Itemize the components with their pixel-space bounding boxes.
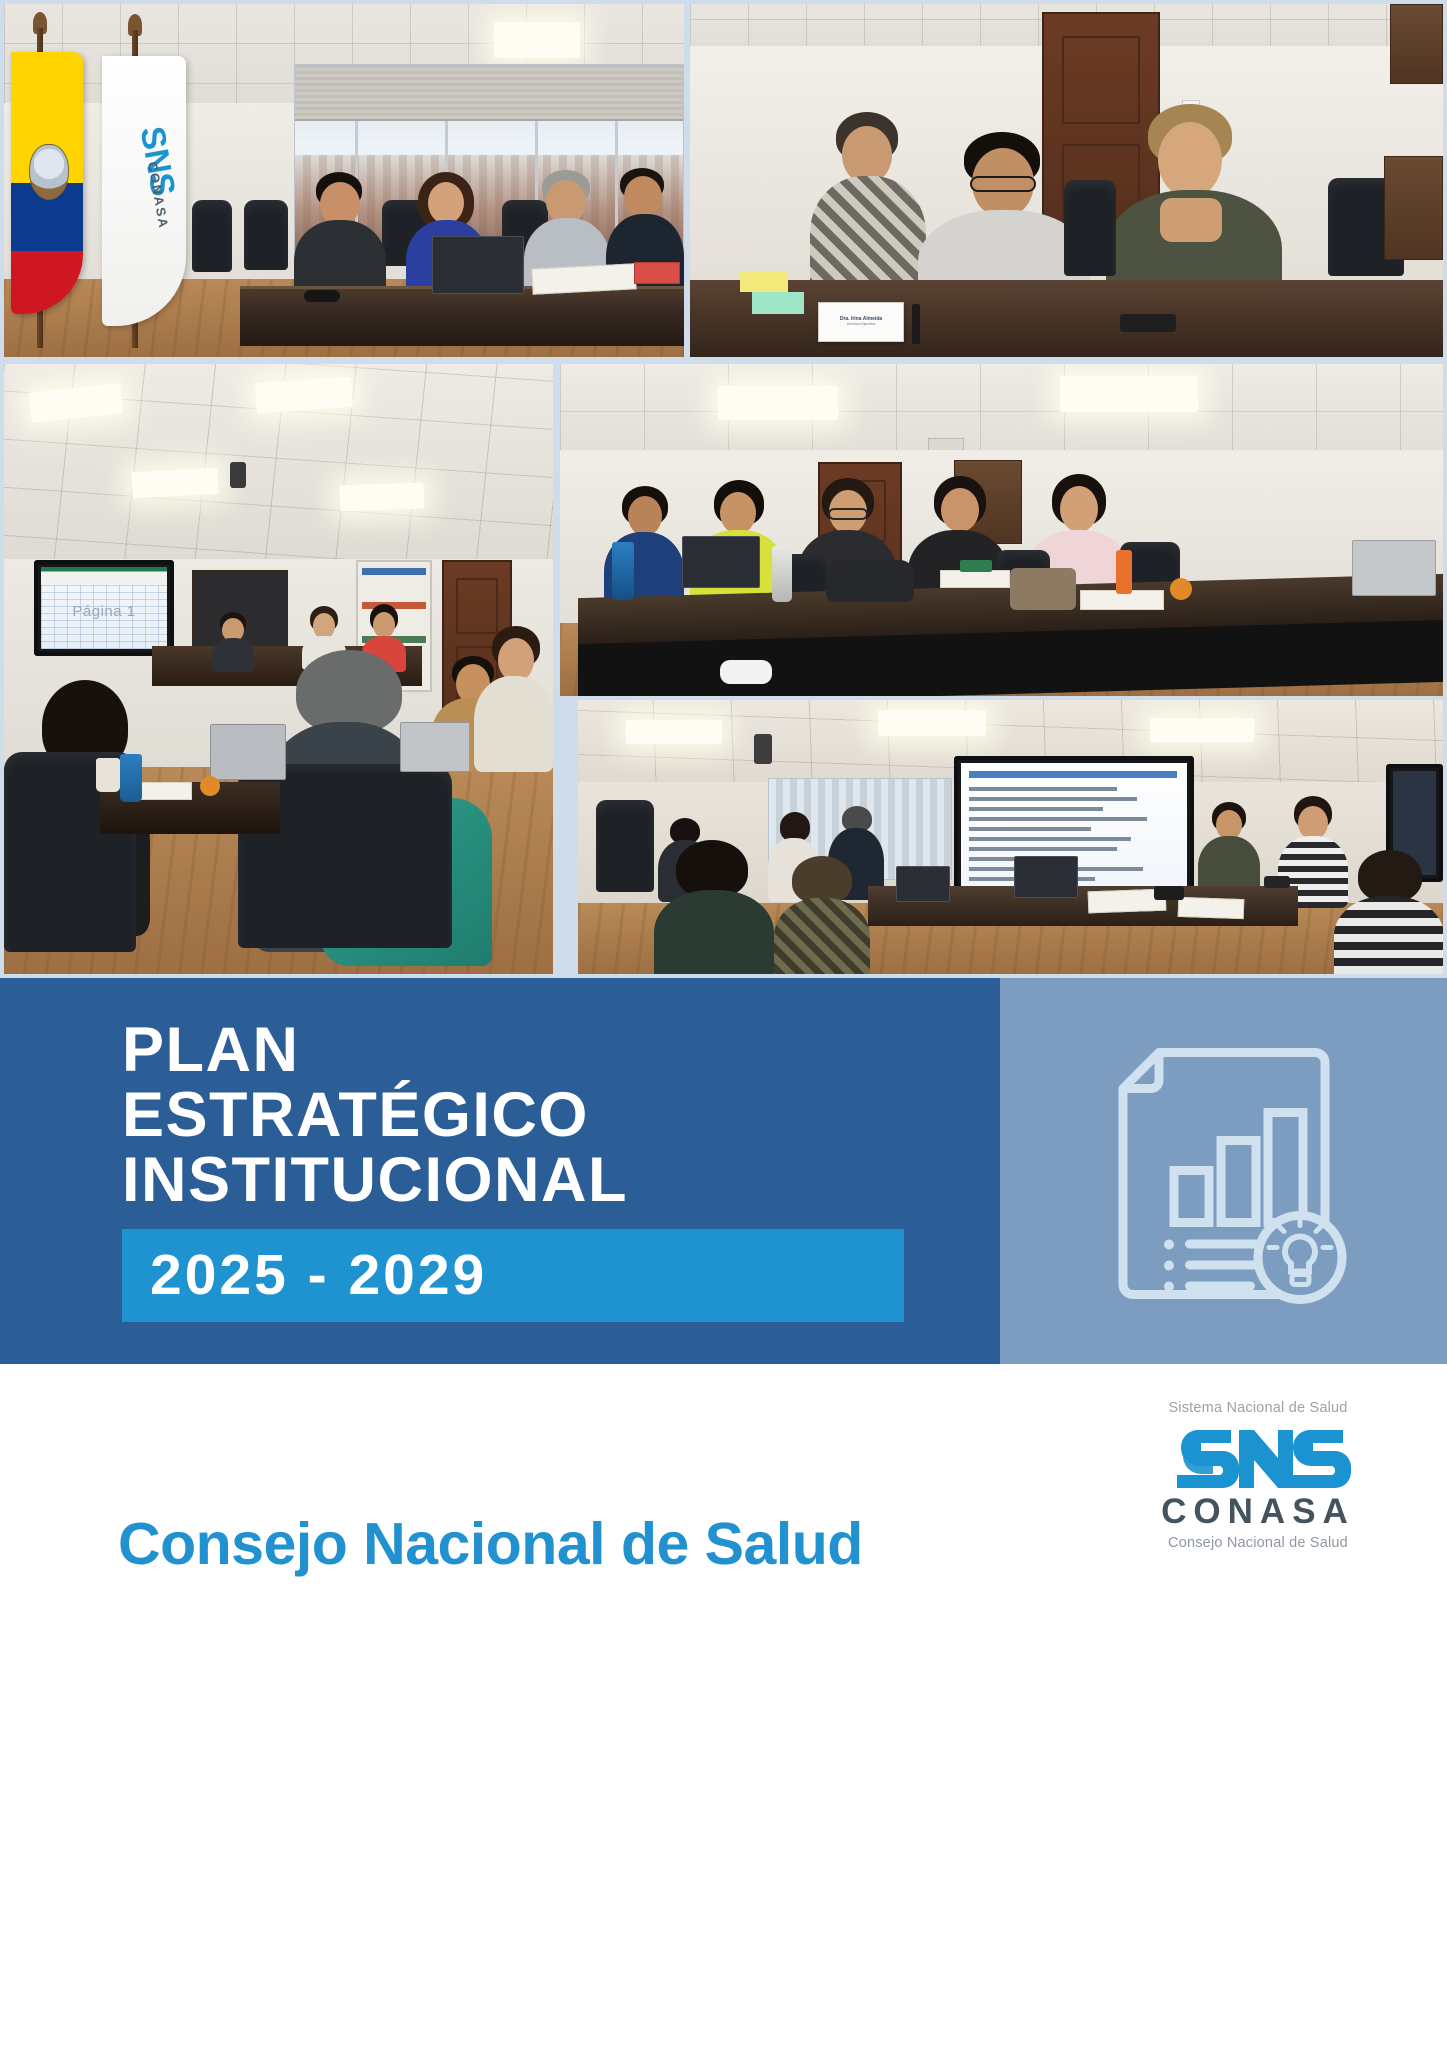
room-scene: SNS CONASA (4, 4, 684, 357)
eyeglasses (828, 508, 868, 520)
torso (774, 898, 870, 974)
documents (531, 263, 636, 294)
title-line-2: ESTRATÉGICO (122, 1083, 952, 1148)
footer: Consejo Nacional de Salud Sistema Nacion… (0, 1364, 1447, 2048)
window-blind (295, 65, 683, 121)
logo-name: CONASA (1133, 1492, 1383, 1532)
laptop (432, 236, 524, 294)
water-bottle (612, 542, 634, 600)
torso (474, 676, 553, 772)
head (941, 488, 979, 532)
projector (754, 734, 772, 764)
logo-tagline-bottom: Consejo Nacional de Salud (1133, 1535, 1383, 1551)
ceiling-light (131, 468, 218, 498)
conasa-logo: Sistema Nacional de Salud CONASA Consejo… (1133, 1400, 1383, 1551)
organization-name: Consejo Nacional de Salud (118, 1510, 863, 1578)
participant (810, 112, 926, 296)
flag-sns-conasa: SNS CONASA (102, 56, 186, 326)
book (960, 560, 992, 572)
photo-bottom-right (578, 700, 1443, 974)
documents (634, 262, 680, 284)
head (373, 612, 395, 638)
participant (292, 172, 388, 302)
ceiling-light (878, 710, 986, 736)
chair (192, 200, 232, 272)
sns-logomark (1133, 1418, 1383, 1496)
ceiling-light (626, 720, 722, 744)
laptop (210, 724, 286, 780)
spreadsheet-ribbon (41, 567, 167, 585)
photo-top-right: Dra. Irina Almeida Directora Ejecutiva (690, 4, 1443, 357)
smartphone (1264, 876, 1290, 888)
torso (654, 890, 774, 974)
year-range: 2025 - 2029 (150, 1242, 487, 1308)
bottle (1116, 550, 1132, 594)
room-scene: Dra. Irina Almeida Directora Ejecutiva (690, 4, 1443, 357)
chair (596, 800, 654, 892)
head (1060, 486, 1098, 532)
wall-display: Página 1 (34, 560, 174, 656)
title-line-3: INSTITUCIONAL (122, 1148, 952, 1213)
torso (1334, 896, 1443, 974)
laptop (896, 866, 950, 902)
documents (940, 570, 1010, 588)
flag-ecuador (11, 52, 83, 314)
head (1298, 806, 1328, 840)
screen-watermark: Página 1 (41, 603, 167, 620)
chair (244, 200, 288, 270)
title-band-right (1000, 978, 1447, 1364)
thermos (772, 546, 792, 602)
title-band-left: PLAN ESTRATÉGICO INSTITUCIONAL 2025 - 20… (0, 978, 1000, 1364)
room-scene (560, 364, 1443, 696)
laptop (1014, 856, 1078, 898)
year-range-box: 2025 - 2029 (122, 1229, 904, 1322)
orange-fruit (1170, 578, 1192, 600)
smartphone (1154, 886, 1184, 900)
laptop (682, 536, 760, 588)
participant (654, 840, 774, 974)
title-block: PLAN ESTRATÉGICO INSTITUCIONAL 2025 - 20… (122, 1018, 952, 1322)
eyeglasses (970, 176, 1036, 192)
coffee-cup (96, 758, 120, 792)
laptop (1352, 540, 1436, 596)
laptop (400, 722, 470, 772)
documents (1178, 897, 1245, 919)
shoes (720, 660, 772, 684)
participant (774, 856, 870, 974)
head (720, 492, 756, 534)
water-bottle (120, 754, 142, 802)
logo-tagline-top: Sistema Nacional de Salud (1133, 1400, 1383, 1416)
document-chart-lightbulb-icon (1093, 1019, 1355, 1324)
hands (1160, 198, 1222, 242)
photo-mid-left: Página 1 (4, 364, 553, 974)
screen: Página 1 (41, 567, 167, 649)
head (628, 496, 662, 536)
head (624, 176, 662, 218)
eyeglasses (304, 290, 340, 302)
ecuador-coat-of-arms (29, 144, 69, 200)
room-scene (578, 700, 1443, 974)
eyeglasses (1120, 314, 1176, 332)
sticky-note (740, 272, 788, 292)
photo-top-left: SNS CONASA (4, 4, 684, 357)
photo-mid-right (560, 364, 1443, 696)
title-line-1: PLAN (122, 1018, 952, 1083)
ceiling-light (1150, 718, 1254, 742)
marker-pen (912, 304, 920, 344)
head (1158, 122, 1222, 198)
side-cabinet (1384, 156, 1443, 260)
room-scene: Página 1 (4, 364, 553, 974)
sticky-note (752, 292, 804, 314)
orange-fruit (200, 776, 220, 796)
nameplate: Dra. Irina Almeida Directora Ejecutiva (818, 302, 904, 342)
ceiling-light (1060, 376, 1198, 412)
nameplate-role: Directora Ejecutiva (847, 323, 875, 326)
ceiling-light (718, 386, 838, 420)
participant (474, 626, 553, 766)
participant (1334, 850, 1443, 974)
hair (1358, 850, 1422, 902)
photo-collage: SNS CONASA (0, 0, 1447, 978)
wall-cabinet (1390, 4, 1443, 84)
hair (792, 856, 852, 904)
title-band: PLAN ESTRATÉGICO INSTITUCIONAL 2025 - 20… (0, 978, 1447, 1364)
handbag (826, 560, 914, 602)
ceiling (560, 364, 1443, 464)
projector (230, 462, 246, 488)
ceiling-light (494, 22, 580, 58)
head (428, 182, 464, 224)
chair (1064, 180, 1116, 276)
ceiling-light (340, 483, 425, 512)
torso (212, 638, 254, 672)
handbag (1010, 568, 1076, 610)
